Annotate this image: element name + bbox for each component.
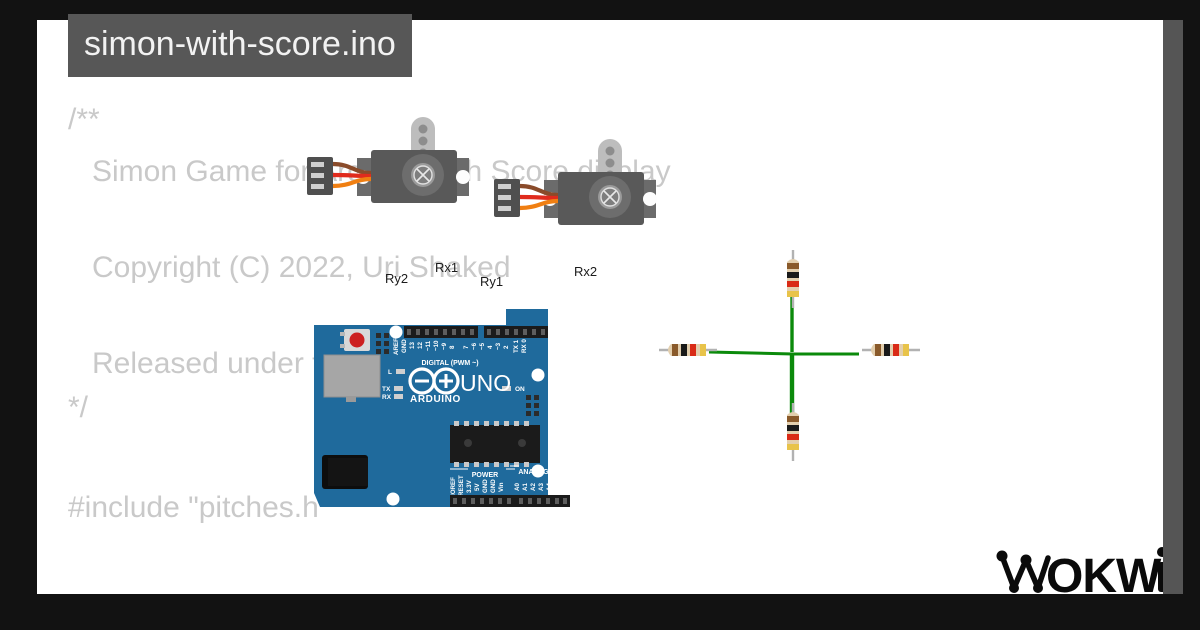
svg-text:RX: RX (382, 394, 392, 401)
svg-text:~11: ~11 (425, 340, 432, 351)
svg-text:L: L (388, 369, 392, 376)
arduino-uno-board[interactable]: AREF GND 13 12 ~11 ~10 ~9 8 7 ~6 ~5 4 ~3… (310, 303, 575, 513)
svg-text:13: 13 (409, 342, 416, 349)
svg-text:7: 7 (463, 345, 470, 349)
svg-text:A2: A2 (530, 483, 537, 491)
servo-connector-icon (494, 179, 520, 217)
svg-text:~10: ~10 (433, 340, 440, 351)
svg-text:GND: GND (490, 479, 497, 493)
project-canvas: /**Simon Game for Arduino with Score dis… (37, 20, 1163, 594)
svg-text:A5: A5 (554, 483, 561, 491)
svg-text:12: 12 (417, 342, 424, 349)
resistor-rx2[interactable] (862, 338, 920, 362)
svg-text:5V: 5V (474, 483, 481, 491)
component-label-rx2: Rx2 (574, 264, 597, 279)
component-label-rx1: Rx1 (435, 260, 458, 275)
component-label-ry2: Ry2 (385, 271, 408, 286)
screenshot-root: /**Simon Game for Arduino with Score dis… (0, 0, 1200, 630)
resistor-ry1[interactable] (781, 403, 805, 461)
wokwi-logo: OKW (992, 540, 1163, 594)
resistor-ry2[interactable] (781, 250, 805, 308)
component-label-ry1: Ry1 (480, 274, 503, 289)
svg-text:A0: A0 (514, 483, 521, 491)
svg-text:~3: ~3 (495, 342, 502, 350)
svg-text:Vin: Vin (498, 482, 505, 492)
svg-text:ON: ON (515, 386, 525, 393)
project-title: simon-with-score.ino (68, 14, 412, 77)
svg-text:GND: GND (482, 479, 489, 493)
svg-text:OKW: OKW (1046, 550, 1162, 594)
svg-text:A3: A3 (538, 483, 545, 491)
svg-text:8: 8 (449, 345, 456, 349)
svg-text:AREF: AREF (393, 338, 400, 355)
svg-text:TX 1: TX 1 (513, 339, 520, 353)
svg-text:ARDUINO: ARDUINO (410, 394, 461, 405)
svg-text:3.3V: 3.3V (466, 479, 473, 493)
svg-text:~9: ~9 (441, 342, 448, 350)
servo-motor-1[interactable] (305, 115, 505, 225)
svg-text:DIGITAL (PWM ~): DIGITAL (PWM ~) (421, 360, 478, 367)
resistor-rx1[interactable] (659, 338, 717, 362)
svg-text:A1: A1 (522, 483, 529, 491)
servo-connector-icon (307, 157, 333, 195)
svg-text:4: 4 (487, 345, 494, 349)
svg-text:RX 0: RX 0 (521, 339, 528, 353)
svg-text:IOREF: IOREF (450, 477, 457, 496)
svg-text:~5: ~5 (479, 342, 486, 350)
svg-text:ANALOG IN: ANALOG IN (518, 469, 557, 476)
svg-text:UNO: UNO (460, 370, 511, 396)
svg-text:RESET: RESET (458, 475, 465, 496)
svg-text:GND: GND (401, 339, 408, 353)
diagram-sheet: Ry2 Rx1 Ry1 Rx2 (37, 20, 1163, 594)
svg-text:~6: ~6 (471, 342, 478, 350)
svg-text:TX: TX (382, 386, 391, 393)
svg-text:2: 2 (503, 345, 510, 349)
svg-text:POWER: POWER (472, 472, 498, 479)
wire-left (709, 352, 793, 354)
svg-text:A4: A4 (546, 483, 553, 491)
